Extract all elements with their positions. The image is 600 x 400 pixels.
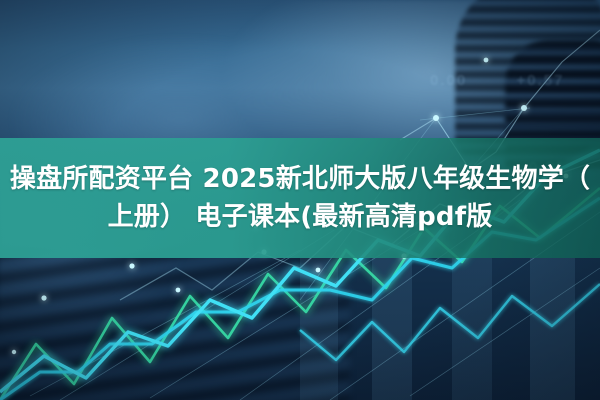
banner-title-line-1: 操盘所配资平台 2025新北师大版八年级生物学（ bbox=[10, 160, 590, 198]
banner-title-line-2: 上册） 电子课本(最新高清pdf版 bbox=[108, 198, 493, 236]
article-banner-image: 0.00 +0.57 0.00 0.21 0.00 -0.34 0.00 0.1… bbox=[0, 0, 600, 400]
title-band: 操盘所配资平台 2025新北师大版八年级生物学（ 上册） 电子课本(最新高清pd… bbox=[0, 138, 600, 258]
